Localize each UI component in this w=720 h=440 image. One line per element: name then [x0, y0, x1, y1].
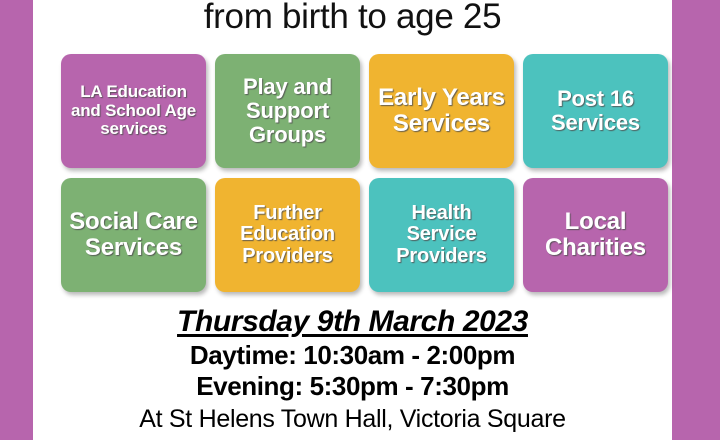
event-evening-hours: Evening: 5:30pm - 7:30pm [33, 371, 672, 402]
category-tile-la-education[interactable]: LA Education and School Age services [61, 54, 206, 168]
category-tile-early-years[interactable]: Early Years Services [369, 54, 514, 168]
category-tile-label: Local Charities [529, 209, 662, 261]
category-tile-label: Social Care Services [67, 209, 200, 261]
category-tile-label: Play and Support Groups [221, 75, 354, 146]
category-tile-label: LA Education and School Age services [67, 83, 200, 138]
category-tile-further-education[interactable]: Further Education Providers [215, 178, 360, 292]
poster-heading: from birth to age 25 [33, 0, 672, 38]
category-tile-play-support[interactable]: Play and Support Groups [215, 54, 360, 168]
event-date: Thursday 9th March 2023 [33, 304, 672, 340]
category-tile-local-charities[interactable]: Local Charities [523, 178, 668, 292]
category-tile-health-service[interactable]: Health Service Providers [369, 178, 514, 292]
category-tile-social-care[interactable]: Social Care Services [61, 178, 206, 292]
event-daytime-hours: Daytime: 10:30am - 2:00pm [33, 340, 672, 371]
category-tile-label: Early Years Services [375, 85, 508, 137]
category-tile-label: Further Education Providers [221, 203, 354, 268]
category-tile-label: Post 16 Services [529, 87, 662, 135]
category-tile-grid: LA Education and School Age services Pla… [61, 54, 668, 292]
poster-content: from birth to age 25 LA Education and Sc… [33, 0, 672, 440]
decorative-right-border [672, 0, 720, 440]
category-tile-label: Health Service Providers [375, 203, 508, 268]
event-venue: At St Helens Town Hall, Victoria Square [33, 404, 672, 434]
event-poster: from birth to age 25 LA Education and Sc… [0, 0, 720, 440]
category-tile-row-1: LA Education and School Age services Pla… [61, 54, 668, 168]
category-tile-row-2: Social Care Services Further Education P… [61, 178, 668, 292]
category-tile-post-16[interactable]: Post 16 Services [523, 54, 668, 168]
heading-line-text: from birth to age 25 [33, 0, 672, 38]
decorative-left-border [0, 0, 33, 440]
event-details: Thursday 9th March 2023 Daytime: 10:30am… [33, 304, 672, 434]
